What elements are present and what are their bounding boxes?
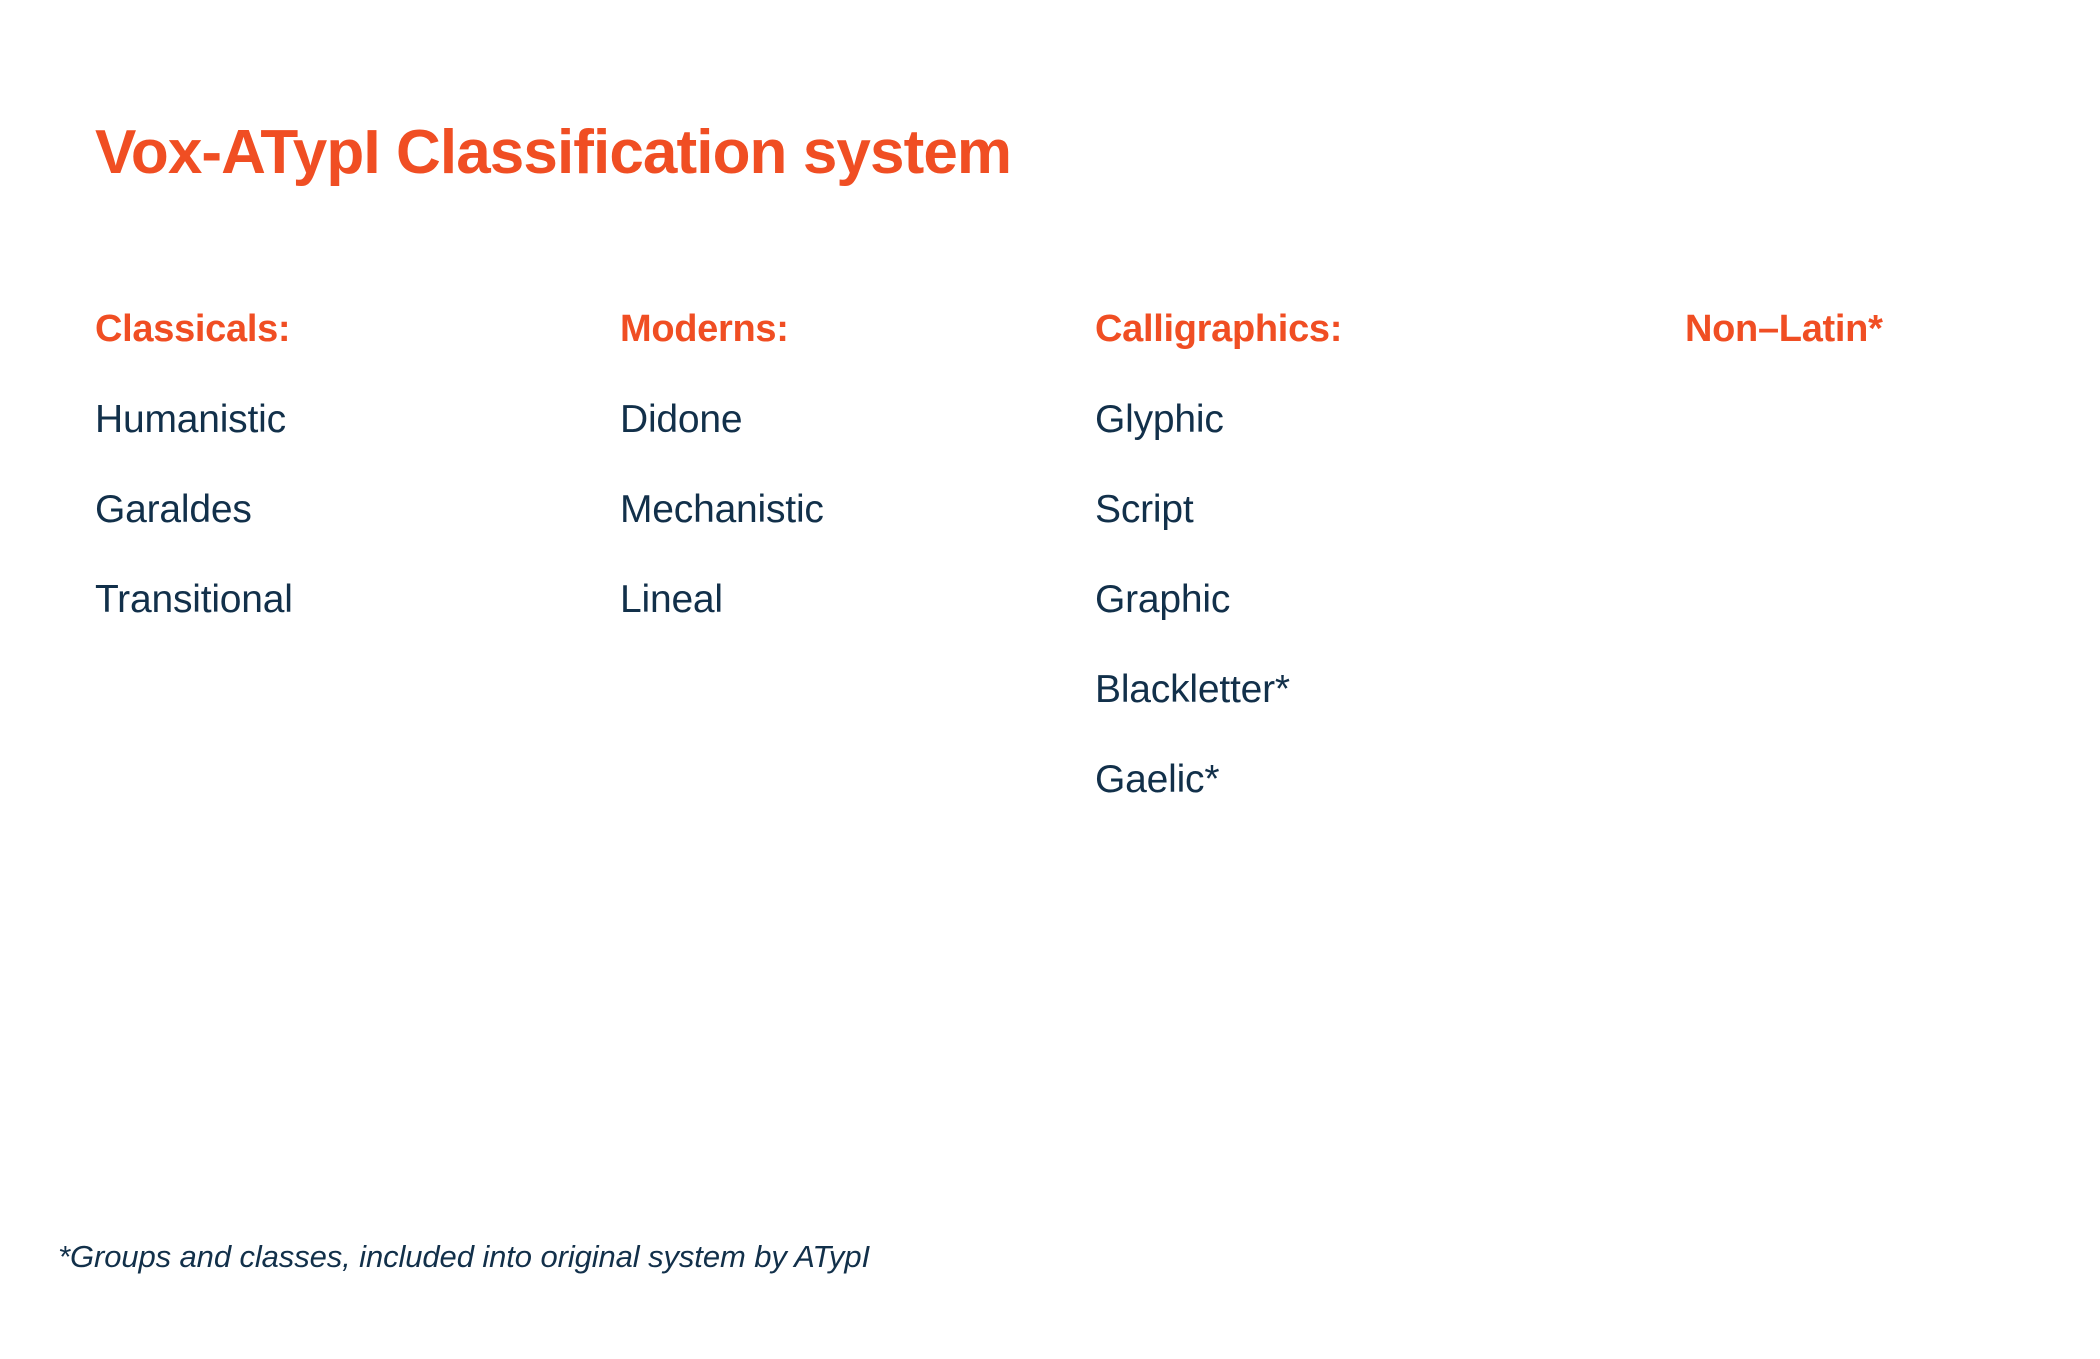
footnote-text: *Groups and classes, included into origi… [58,1238,870,1275]
list-item: Humanistic [95,400,620,439]
list-item: Script [1095,490,1685,529]
list-item: Lineal [620,580,1095,619]
list-item: Mechanistic [620,490,1095,529]
column-calligraphics: Calligraphics: Glyphic Script Graphic Bl… [1095,310,1685,799]
column-classicals: Classicals: Humanistic Garaldes Transiti… [95,310,620,619]
list-item: Transitional [95,580,620,619]
column-heading-calligraphics: Calligraphics: [1095,310,1685,348]
column-heading-classicals: Classicals: [95,310,620,348]
list-item: Glyphic [1095,400,1685,439]
column-heading-non-latin: Non–Latin* [1685,310,2035,348]
column-non-latin: Non–Latin* [1685,310,2035,348]
page-title: Vox-ATypI Classification system [95,117,1011,188]
classification-columns: Classicals: Humanistic Garaldes Transiti… [95,310,2035,799]
list-item: Garaldes [95,490,620,529]
slide-canvas: Vox-ATypI Classification system Classica… [0,0,2100,1359]
column-heading-moderns: Moderns: [620,310,1095,348]
column-list-calligraphics: Glyphic Script Graphic Blackletter* Gael… [1095,400,1685,799]
list-item: Gaelic* [1095,760,1685,799]
column-moderns: Moderns: Didone Mechanistic Lineal [620,310,1095,619]
list-item: Blackletter* [1095,670,1685,709]
column-list-moderns: Didone Mechanistic Lineal [620,400,1095,619]
list-item: Didone [620,400,1095,439]
list-item: Graphic [1095,580,1685,619]
column-list-classicals: Humanistic Garaldes Transitional [95,400,620,619]
